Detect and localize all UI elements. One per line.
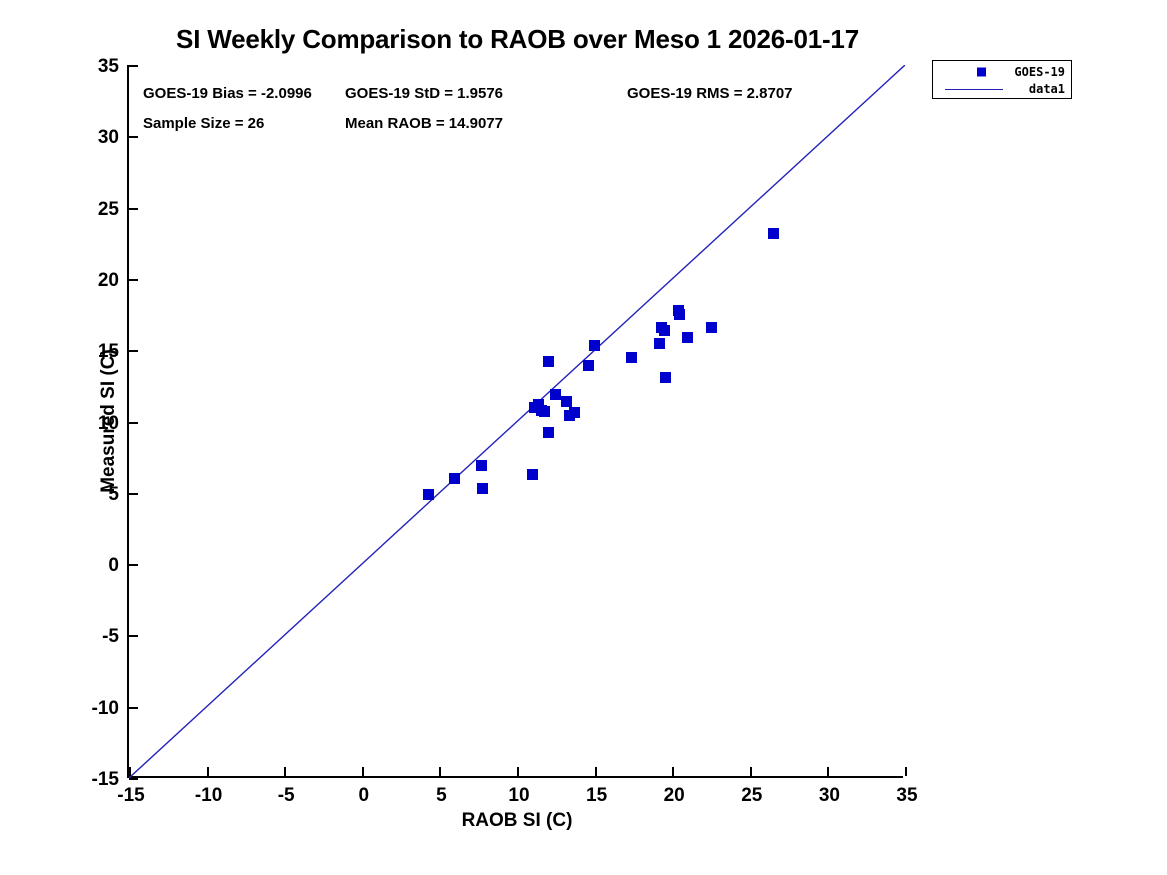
scatter-point (543, 356, 554, 367)
x-tick: -10 (207, 767, 209, 776)
scatter-point (543, 427, 554, 438)
x-tick-label: 10 (508, 785, 529, 807)
legend-square-marker-icon (977, 68, 986, 77)
scatter-point (654, 338, 665, 349)
scatter-point (659, 325, 670, 336)
scatter-point (660, 372, 671, 383)
scatter-point (706, 322, 717, 333)
x-tick-label: 25 (741, 785, 762, 807)
x-tick-label: 20 (664, 785, 685, 807)
scatter-point (449, 473, 460, 484)
x-tick: 10 (517, 767, 519, 776)
x-tick-label: 35 (896, 785, 917, 807)
legend: GOES-19 data1 (932, 60, 1072, 99)
x-tick: 35 (905, 767, 907, 776)
legend-entry-goes19: GOES-19 (933, 63, 1071, 81)
scatter-point (423, 489, 434, 500)
y-tick: 10 (129, 422, 138, 424)
scatter-point (674, 309, 685, 320)
identity-line (129, 65, 905, 778)
identity-line-layer (129, 65, 905, 778)
stat-bias: GOES-19 Bias = -2.0996 (143, 85, 312, 102)
scatter-point (561, 396, 572, 407)
x-tick: 25 (750, 767, 752, 776)
scatter-point (527, 469, 538, 480)
y-tick-label: 20 (98, 270, 119, 292)
y-tick: 30 (129, 136, 138, 138)
x-tick: 30 (827, 767, 829, 776)
scatter-point (682, 332, 693, 343)
stat-meanraob: Mean RAOB = 14.9077 (345, 115, 503, 132)
scatter-point (477, 483, 488, 494)
y-tick: 0 (129, 564, 138, 566)
y-tick: 20 (129, 279, 138, 281)
x-tick-label: -5 (278, 785, 295, 807)
scatter-point (768, 228, 779, 239)
y-tick: -15 (129, 778, 138, 780)
x-tick: 20 (672, 767, 674, 776)
y-tick-label: 25 (98, 199, 119, 221)
legend-label-goes19: GOES-19 (1014, 65, 1065, 79)
x-tick: 0 (362, 767, 364, 776)
y-tick-label: 35 (98, 56, 119, 78)
x-tick-label: 15 (586, 785, 607, 807)
x-tick-label: 5 (436, 785, 447, 807)
y-tick-label: 30 (98, 127, 119, 149)
scatter-point (583, 360, 594, 371)
scatter-point (550, 389, 561, 400)
stat-rms: GOES-19 RMS = 2.8707 (627, 85, 793, 102)
stat-sample: Sample Size = 26 (143, 115, 264, 132)
y-tick: 5 (129, 493, 138, 495)
stat-std: GOES-19 StD = 1.9576 (345, 85, 503, 102)
scatter-point (569, 407, 580, 418)
y-axis-label: Measured SI (C) (98, 349, 120, 493)
x-tick: 15 (595, 767, 597, 776)
y-tick-label: 0 (108, 555, 119, 577)
y-tick-label: -15 (92, 769, 119, 791)
page-title: SI Weekly Comparison to RAOB over Meso 1… (0, 24, 1035, 55)
y-tick-label: -5 (102, 626, 119, 648)
legend-entry-data1: data1 (933, 80, 1071, 98)
y-tick: 35 (129, 65, 138, 67)
plot-area: -15-10-505101520253035 -15-10-5051015202… (127, 65, 903, 778)
x-axis-label: RAOB SI (C) (129, 810, 905, 832)
scatter-point (476, 460, 487, 471)
x-tick-label: -10 (195, 785, 222, 807)
legend-label-data1: data1 (1029, 82, 1065, 96)
x-tick-label: 30 (819, 785, 840, 807)
y-tick: 25 (129, 208, 138, 210)
x-tick: -5 (284, 767, 286, 776)
y-tick-label: -10 (92, 698, 119, 720)
y-tick: 15 (129, 350, 138, 352)
scatter-point (539, 406, 550, 417)
x-tick-label: -15 (117, 785, 144, 807)
chart-figure: SI Weekly Comparison to RAOB over Meso 1… (0, 0, 1167, 875)
x-tick-label: 0 (359, 785, 370, 807)
scatter-point (626, 352, 637, 363)
y-tick: -10 (129, 707, 138, 709)
x-tick: 5 (439, 767, 441, 776)
scatter-point (589, 340, 600, 351)
legend-line-icon (945, 89, 1003, 90)
x-tick: -15 (129, 767, 131, 776)
y-tick: -5 (129, 635, 138, 637)
